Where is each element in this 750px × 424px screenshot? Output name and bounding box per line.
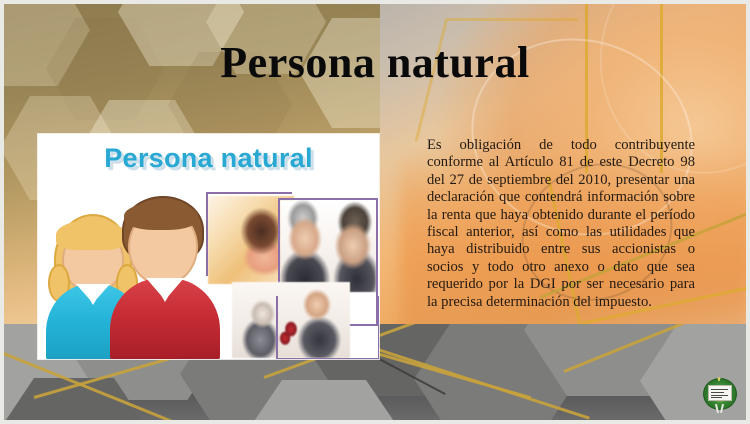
national-emblem-icon <box>700 376 738 416</box>
picture-panel: Persona natural <box>38 134 379 359</box>
collage-frame <box>276 296 379 359</box>
emblem-scroll <box>708 385 732 401</box>
collage-frame <box>206 192 292 276</box>
panel-heading: Persona natural <box>38 142 379 174</box>
photo-collage <box>208 196 379 359</box>
emblem-legs <box>715 404 723 414</box>
presentation-slide: Persona natural Persona natural <box>0 0 750 424</box>
body-paragraph: Es obligación de todo contribuyente conf… <box>427 137 695 311</box>
slide-title: Persona natural <box>0 38 750 88</box>
